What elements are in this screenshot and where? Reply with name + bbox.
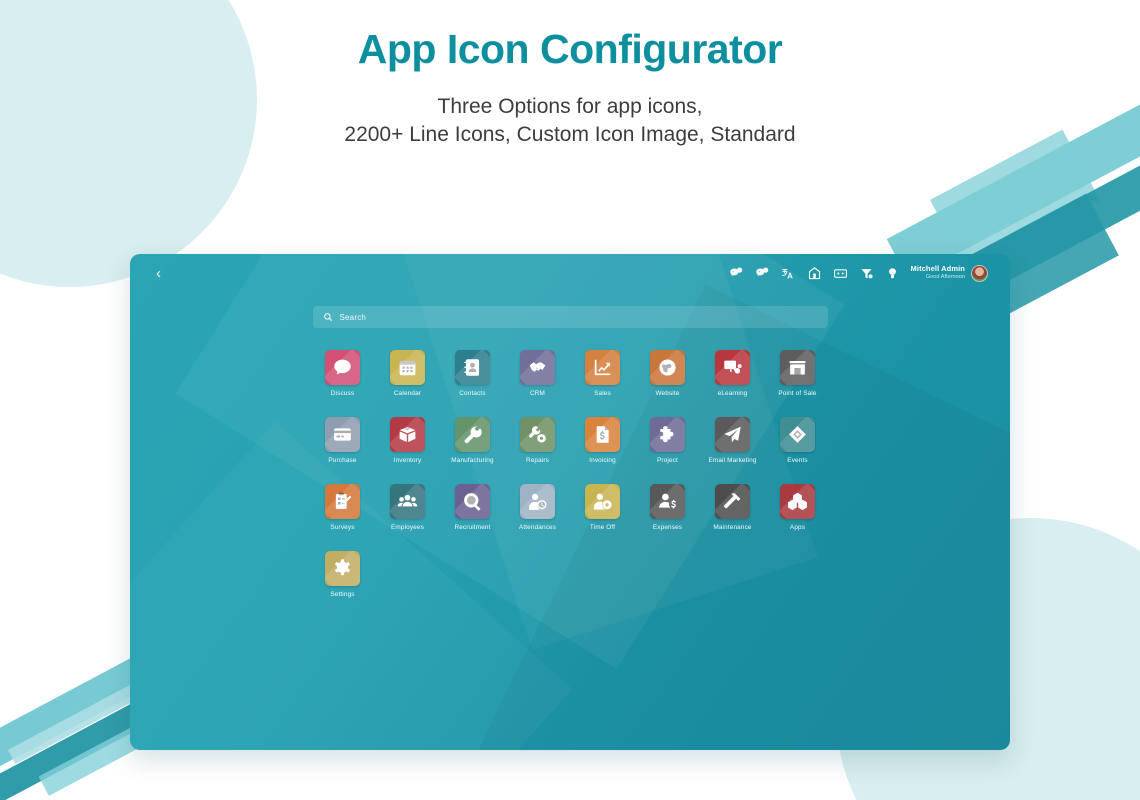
back-button[interactable]: ‹ [156,266,161,281]
activities-icon[interactable] [755,266,770,281]
page-title: App Icon Configurator [0,26,1140,73]
credit-card-icon[interactable] [325,417,360,452]
app-label: Sales [594,390,611,397]
bug-debug-icon[interactable] [859,266,874,281]
app-email-marketing[interactable]: Email Marketing [700,417,765,464]
puzzle-icon[interactable] [650,417,685,452]
app-calendar[interactable]: Calendar [375,350,440,397]
people-group-icon[interactable] [390,484,425,519]
user-greeting: Good Afternoon [911,274,965,280]
app-repairs[interactable]: Repairs [505,417,570,464]
app-label: Employees [391,524,424,531]
app-label: Email Marketing [708,457,756,464]
search-input[interactable]: Search [313,306,828,328]
app-label: Attendances [519,524,556,531]
app-apps[interactable]: Apps [765,484,830,531]
app-settings[interactable]: Settings [310,551,375,598]
storefront-icon[interactable] [780,350,815,385]
app-label: Purchase [328,457,356,464]
calendar-icon[interactable] [390,350,425,385]
subtitle-line-2: 2200+ Line Icons, Custom Icon Image, Sta… [344,123,795,146]
app-attendances[interactable]: Attendances [505,484,570,531]
messages-icon[interactable] [729,266,744,281]
presentation-icon[interactable] [715,350,750,385]
wrench-icon[interactable] [455,417,490,452]
gear-icon[interactable] [325,551,360,586]
app-label: Time Off [590,524,615,531]
app-maintenance[interactable]: Maintenance [700,484,765,531]
chart-up-icon[interactable] [585,350,620,385]
handshake-icon[interactable] [520,350,555,385]
app-window: ‹ [130,254,1010,750]
app-label: Apps [790,524,805,531]
help-tip-icon[interactable] [885,266,900,281]
window-topbar: ‹ [130,254,1010,292]
app-purchase[interactable]: Purchase [310,417,375,464]
app-label: Inventory [394,457,422,464]
app-website[interactable]: Website [635,350,700,397]
app-label: Recruitment [454,524,490,531]
avatar[interactable] [971,265,988,282]
open-box-icon[interactable] [390,417,425,452]
app-discuss[interactable]: Discuss [310,350,375,397]
poster-header: App Icon Configurator Three Options for … [0,0,1140,150]
app-label: Discuss [331,390,354,397]
user-name: Mitchell Admin [911,265,965,274]
app-label: Contacts [459,390,485,397]
app-events[interactable]: Events [765,417,830,464]
app-label: Website [655,390,679,397]
magnifier-icon[interactable] [455,484,490,519]
person-gear-icon[interactable] [585,484,620,519]
clipboard-pen-icon[interactable] [325,484,360,519]
app-project[interactable]: Project [635,417,700,464]
poster-canvas: App Icon Configurator Three Options for … [0,0,1140,800]
person-dollar-icon[interactable] [650,484,685,519]
paper-plane-icon[interactable] [715,417,750,452]
cubes-icon[interactable] [780,484,815,519]
app-employees[interactable]: Employees [375,484,440,531]
globe-icon[interactable] [650,350,685,385]
search-icon [323,312,333,322]
app-crm[interactable]: CRM [505,350,570,397]
app-label: CRM [530,390,545,397]
invoice-dollar-icon[interactable] [585,417,620,452]
user-menu[interactable]: Mitchell Admin Good Afternoon [911,265,988,282]
page-subtitle: Three Options for app icons, 2200+ Line … [0,93,1140,150]
app-grid: DiscussCalendarContactsCRMSalesWebsiteeL… [310,350,830,598]
app-label: Manufacturing [451,457,493,464]
app-surveys[interactable]: Surveys [310,484,375,531]
app-label: Events [787,457,807,464]
app-elearning[interactable]: eLearning [700,350,765,397]
search-row: Search [130,306,1010,328]
app-label: Surveys [330,524,354,531]
hammer-icon[interactable] [715,484,750,519]
ticket-diamond-icon[interactable] [780,417,815,452]
person-clock-icon[interactable] [520,484,555,519]
app-label: Settings [330,591,354,598]
app-inventory[interactable]: Inventory [375,417,440,464]
app-label: Repairs [526,457,549,464]
systray-icons [729,266,900,281]
app-label: Project [657,457,678,464]
chat-bubble-icon[interactable] [325,350,360,385]
app-recruitment[interactable]: Recruitment [440,484,505,531]
app-label: Calendar [394,390,421,397]
wrench-gear-icon[interactable] [520,417,555,452]
translate-icon[interactable] [781,266,796,281]
app-invoicing[interactable]: Invoicing [570,417,635,464]
app-label: eLearning [718,390,748,397]
app-expenses[interactable]: Expenses [635,484,700,531]
enterprise-upgrade-icon[interactable] [807,266,822,281]
app-label: Maintenance [713,524,751,531]
app-time-off[interactable]: Time Off [570,484,635,531]
contact-card-icon[interactable] [455,350,490,385]
app-label: Invoicing [589,457,616,464]
app-contacts[interactable]: Contacts [440,350,505,397]
app-point-of-sale[interactable]: Point of Sale [765,350,830,397]
app-label: Expenses [653,524,682,531]
app-manufacturing[interactable]: Manufacturing [440,417,505,464]
apps-grid-icon[interactable] [833,266,848,281]
app-sales[interactable]: Sales [570,350,635,397]
subtitle-line-1: Three Options for app icons, [438,95,703,118]
app-label: Point of Sale [778,390,816,397]
search-placeholder: Search [340,313,367,322]
